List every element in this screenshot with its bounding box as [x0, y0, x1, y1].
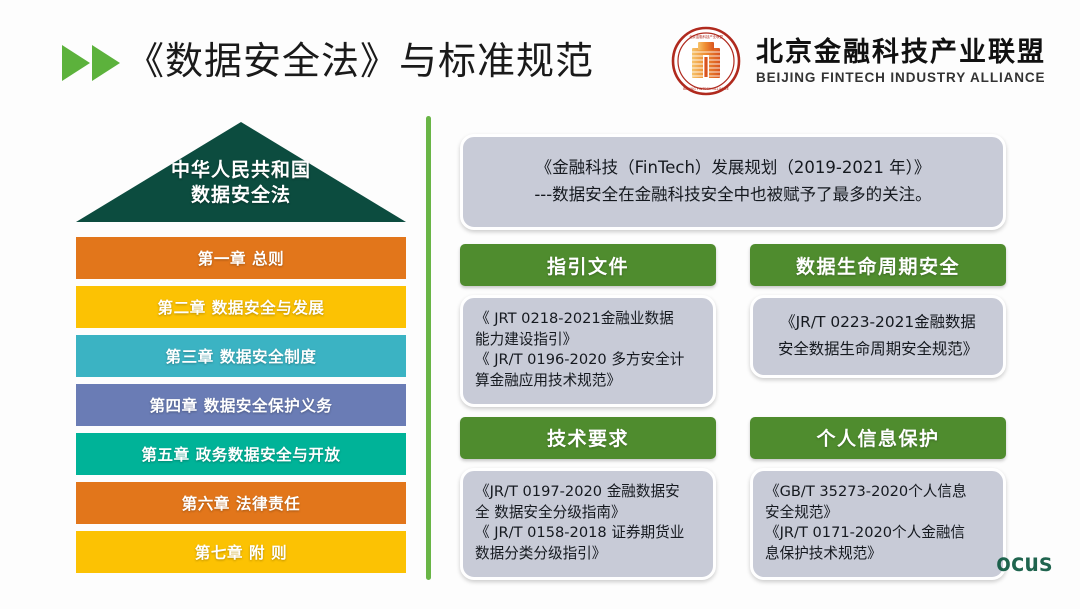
double-chevron-right-icon: [60, 43, 122, 83]
brand-lockup: 北京金融科技产业联盟 BEIJING FINTECH ALLIANCE 北京金融…: [670, 24, 1046, 98]
chapter-bar[interactable]: 第五章 政务数据安全与开放: [76, 433, 406, 475]
standards-cell-body: 《JR/T 0197-2020 金融数据安全 数据安全分级指南》《 JR/T 0…: [460, 468, 716, 580]
chapter-bar[interactable]: 第一章 总则: [76, 237, 406, 279]
fintech-plan-title: 《金融科技（FinTech）发展规划（2019-2021 年）》: [536, 155, 931, 182]
apex-label-line-2: 数据安全法: [76, 183, 406, 208]
chapter-label: 第二章 数据安全与发展: [158, 296, 325, 318]
standards-cell: 技术要求《JR/T 0197-2020 金融数据安全 数据安全分级指南》《 JR…: [460, 417, 716, 580]
chapter-bar[interactable]: 第四章 数据安全保护义务: [76, 384, 406, 426]
brand-name-en: BEIJING FINTECH INDUSTRY ALLIANCE: [756, 71, 1046, 85]
standard-line: 《JR/T 0223-2021金融数据: [765, 309, 991, 336]
standards-grid: 指引文件《 JRT 0218-2021金融业数据能力建设指引》《 JR/T 01…: [460, 244, 1008, 580]
standard-line: 全 数据安全分级指南》: [475, 503, 701, 524]
chapter-label: 第七章 附 则: [195, 541, 288, 563]
standard-line: 《JR/T 0171-2020个人金融信: [765, 523, 991, 544]
chapter-bar[interactable]: 第七章 附 则: [76, 531, 406, 573]
standards-pane: 《金融科技（FinTech）发展规划（2019-2021 年）》 ---数据安全…: [460, 134, 1008, 580]
standards-cell-heading[interactable]: 数据生命周期安全: [750, 244, 1006, 286]
standard-line: 息保护技术规范》: [765, 544, 991, 565]
standards-cell: 数据生命周期安全《JR/T 0223-2021金融数据安全数据生命周期安全规范》: [750, 244, 1006, 407]
standards-cell: 个人信息保护《GB/T 35273-2020个人信息安全规范》《JR/T 017…: [750, 417, 1006, 580]
chapter-label: 第一章 总则: [198, 247, 285, 269]
standard-line: 安全数据生命周期安全规范》: [765, 336, 991, 363]
chapter-label: 第四章 数据安全保护义务: [149, 394, 332, 416]
standards-cell-body: 《GB/T 35273-2020个人信息安全规范》《JR/T 0171-2020…: [750, 468, 1006, 580]
slide-canvas: 《数据安全法》与标准规范: [0, 0, 1080, 609]
data-security-law-pyramid: 中华人民共和国 数据安全法 第一章 总则第二章 数据安全与发展第三章 数据安全制…: [76, 122, 406, 580]
chapter-list: 第一章 总则第二章 数据安全与发展第三章 数据安全制度第四章 数据安全保护义务第…: [76, 237, 406, 573]
fintech-plan-card: 《金融科技（FinTech）发展规划（2019-2021 年）》 ---数据安全…: [460, 134, 1006, 230]
standards-cell-heading[interactable]: 指引文件: [460, 244, 716, 286]
slide-header: 《数据安全法》与标准规范: [0, 0, 1080, 112]
standard-line: 能力建设指引》: [475, 330, 701, 351]
standard-line: 安全规范》: [765, 503, 991, 524]
standard-line: 算金融应用技术规范》: [475, 371, 701, 392]
svg-text:BEIJING FINTECH ALLIANCE: BEIJING FINTECH ALLIANCE: [683, 87, 729, 91]
focus-watermark: ocus: [996, 548, 1074, 577]
standard-line: 《 JR/T 0196-2020 多方安全计: [475, 350, 701, 371]
chapter-label: 第五章 政务数据安全与开放: [141, 443, 340, 465]
standard-line: 《GB/T 35273-2020个人信息: [765, 482, 991, 503]
chapter-bar[interactable]: 第六章 法律责任: [76, 482, 406, 524]
pyramid-apex: 中华人民共和国 数据安全法: [76, 122, 406, 222]
standards-cell-heading[interactable]: 个人信息保护: [750, 417, 1006, 459]
vertical-divider: [426, 116, 431, 580]
page-title: 《数据安全法》与标准规范: [126, 30, 594, 85]
pyramid-apex-label: 中华人民共和国 数据安全法: [76, 158, 406, 209]
chapter-bar[interactable]: 第三章 数据安全制度: [76, 335, 406, 377]
standards-cell-body: 《 JRT 0218-2021金融业数据能力建设指引》《 JR/T 0196-2…: [460, 295, 716, 407]
apex-label-line-1: 中华人民共和国: [76, 158, 406, 183]
standard-line: 《 JR/T 0158-2018 证券期货业: [475, 523, 701, 544]
standards-cell: 指引文件《 JRT 0218-2021金融业数据能力建设指引》《 JR/T 01…: [460, 244, 716, 407]
fintech-plan-note: ---数据安全在金融科技安全中也被赋予了最多的关注。: [534, 182, 931, 209]
chapter-bar[interactable]: 第二章 数据安全与发展: [76, 286, 406, 328]
chapter-label: 第三章 数据安全制度: [166, 345, 317, 367]
alliance-seal-icon: 北京金融科技产业联盟 BEIJING FINTECH ALLIANCE: [670, 25, 742, 97]
chapter-label: 第六章 法律责任: [182, 492, 301, 514]
standards-cell-body: 《JR/T 0223-2021金融数据安全数据生命周期安全规范》: [750, 295, 1006, 378]
standard-line: 数据分类分级指引》: [475, 544, 701, 565]
svg-text:北京金融科技产业联盟: 北京金融科技产业联盟: [689, 34, 724, 39]
standard-line: 《 JRT 0218-2021金融业数据: [475, 309, 701, 330]
standard-line: 《JR/T 0197-2020 金融数据安: [475, 482, 701, 503]
brand-name-cn: 北京金融科技产业联盟: [756, 38, 1046, 68]
standards-cell-heading[interactable]: 技术要求: [460, 417, 716, 459]
